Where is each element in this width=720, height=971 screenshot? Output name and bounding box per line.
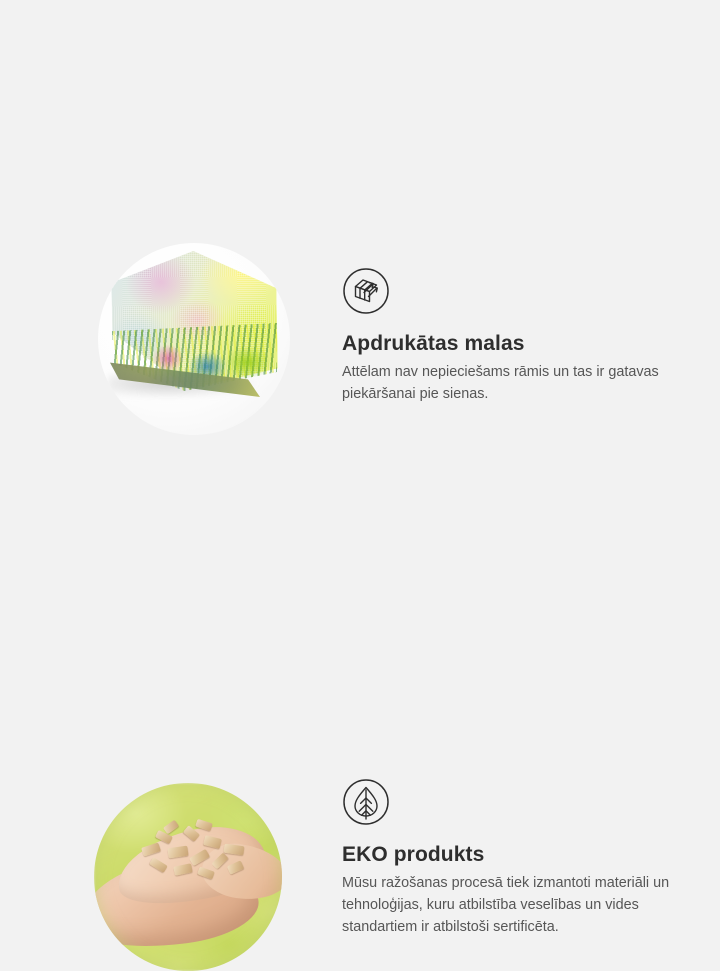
feature-eko: EKO produkts Mūsu ražošanas procesā tiek… [0, 385, 720, 590]
hands-holding-wood-chips-photo [94, 783, 282, 971]
wood-chips [138, 823, 250, 887]
feature-page: Apdrukātas malas Attēlam nav nepieciešam… [0, 0, 720, 720]
feature-title: EKO produkts [342, 826, 682, 867]
feature-printed-edges: Apdrukātas malas Attēlam nav nepieciešam… [0, 115, 720, 345]
feature-description: Mūsu ražošanas procesā tiek izmantoti ma… [342, 873, 674, 939]
eko-content: EKO produkts Mūsu ražošanas procesā tiek… [342, 778, 682, 939]
canvas-wrapped-edge-icon [342, 267, 390, 315]
leaf-icon [342, 778, 390, 826]
feature-title: Apdrukātas malas [342, 315, 682, 356]
